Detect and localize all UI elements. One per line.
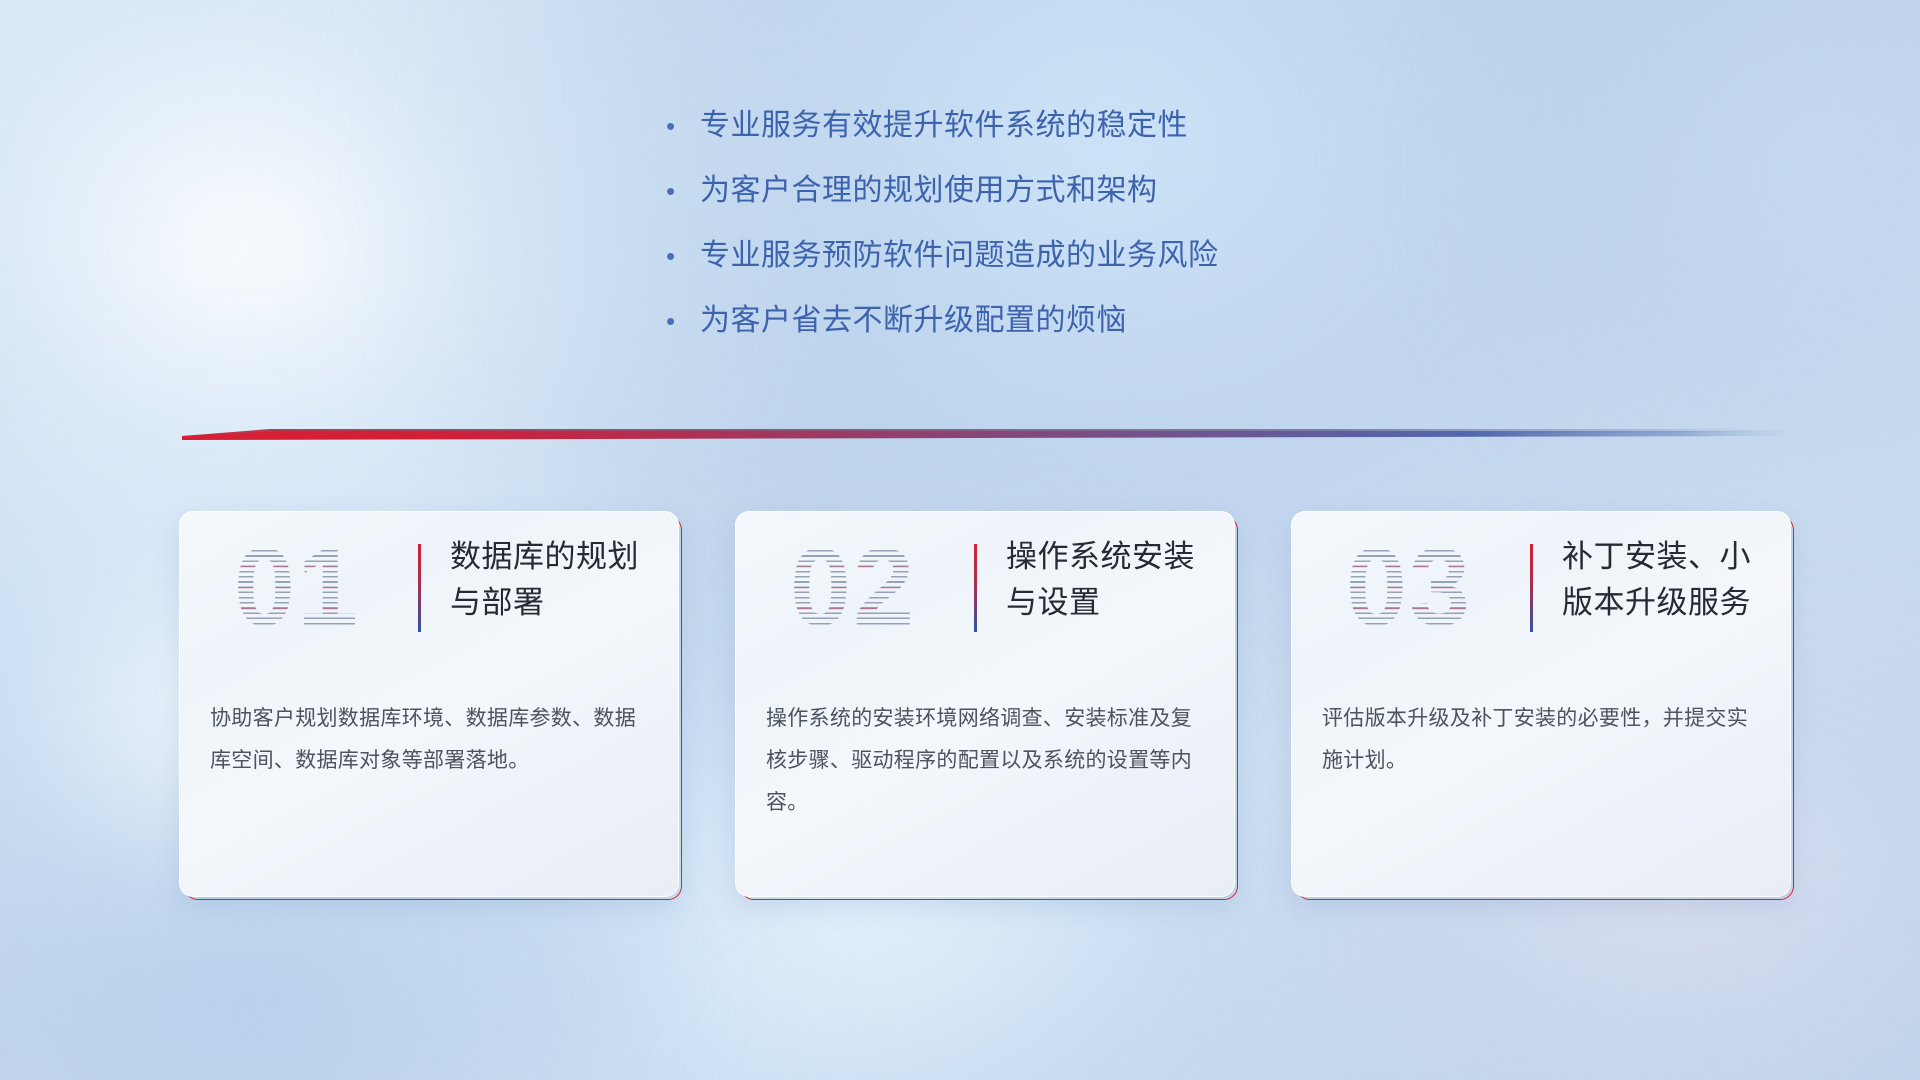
service-card[interactable]: 03 03 补丁安装、小版本升级服务 评估版本升级及补丁安装的必要性，并提交实施… (1296, 516, 1794, 900)
card-surface: 03 03 补丁安装、小版本升级服务 评估版本升级及补丁安装的必要性，并提交实施… (1291, 511, 1791, 897)
list-item: • 为客户合理的规划使用方式和架构 (660, 165, 1420, 230)
card-header: 03 03 补丁安装、小版本升级服务 (1292, 512, 1790, 668)
card-number: 01 (202, 524, 392, 652)
list-item-label: 专业服务预防软件问题造成的业务风险 (700, 230, 1219, 274)
list-item: • 专业服务有效提升软件系统的稳定性 (660, 100, 1420, 165)
list-item: • 专业服务预防软件问题造成的业务风险 (660, 230, 1420, 295)
list-item-label: 为客户合理的规划使用方式和架构 (700, 165, 1158, 209)
service-card[interactable]: 02 02 操作系统安装与设置 操作系统的安装环境网络调查、安装标准及复核步骤、… (740, 516, 1238, 900)
card-divider-bar (418, 544, 421, 632)
background-shade-bottom (680, 880, 1920, 1080)
card-title: 数据库的规划与部署 (450, 534, 662, 626)
list-item-label: 为客户省去不断升级配置的烦恼 (700, 295, 1127, 339)
bullet-dot-icon: • (660, 308, 700, 334)
card-divider-bar (974, 544, 977, 632)
card-description: 协助客户规划数据库环境、数据库参数、数据库空间、数据库对象等部署落地。 (210, 698, 650, 782)
list-item: • 为客户省去不断升级配置的烦恼 (660, 295, 1420, 360)
section-divider (182, 424, 1794, 442)
service-card[interactable]: 01 01 数据库的规划与部署 协助客户规划数据库环境、数据库参数、数据库空间、… (184, 516, 682, 900)
bullet-dot-icon: • (660, 113, 700, 139)
card-description: 评估版本升级及补丁安装的必要性，并提交实施计划。 (1322, 698, 1762, 782)
card-divider-bar (1530, 544, 1533, 632)
card-header: 01 01 数据库的规划与部署 (180, 512, 678, 668)
card-title: 补丁安装、小版本升级服务 (1562, 534, 1774, 626)
card-surface: 02 02 操作系统安装与设置 操作系统的安装环境网络调查、安装标准及复核步骤、… (735, 511, 1235, 897)
card-description: 操作系统的安装环境网络调查、安装标准及复核步骤、驱动程序的配置以及系统的设置等内… (766, 698, 1206, 824)
card-surface: 01 01 数据库的规划与部署 协助客户规划数据库环境、数据库参数、数据库空间、… (179, 511, 679, 897)
card-header: 02 02 操作系统安装与设置 (736, 512, 1234, 668)
benefits-list: • 专业服务有效提升软件系统的稳定性 • 为客户合理的规划使用方式和架构 • 专… (660, 100, 1420, 360)
service-card-list: 01 01 数据库的规划与部署 协助客户规划数据库环境、数据库参数、数据库空间、… (184, 516, 1796, 906)
bullet-dot-icon: • (660, 178, 700, 204)
card-title: 操作系统安装与设置 (1006, 534, 1218, 626)
card-number: 03 (1314, 524, 1504, 652)
slide-canvas: • 专业服务有效提升软件系统的稳定性 • 为客户合理的规划使用方式和架构 • 专… (0, 0, 1920, 1080)
bullet-dot-icon: • (660, 243, 700, 269)
list-item-label: 专业服务有效提升软件系统的稳定性 (700, 100, 1188, 144)
card-number: 02 (758, 524, 948, 652)
